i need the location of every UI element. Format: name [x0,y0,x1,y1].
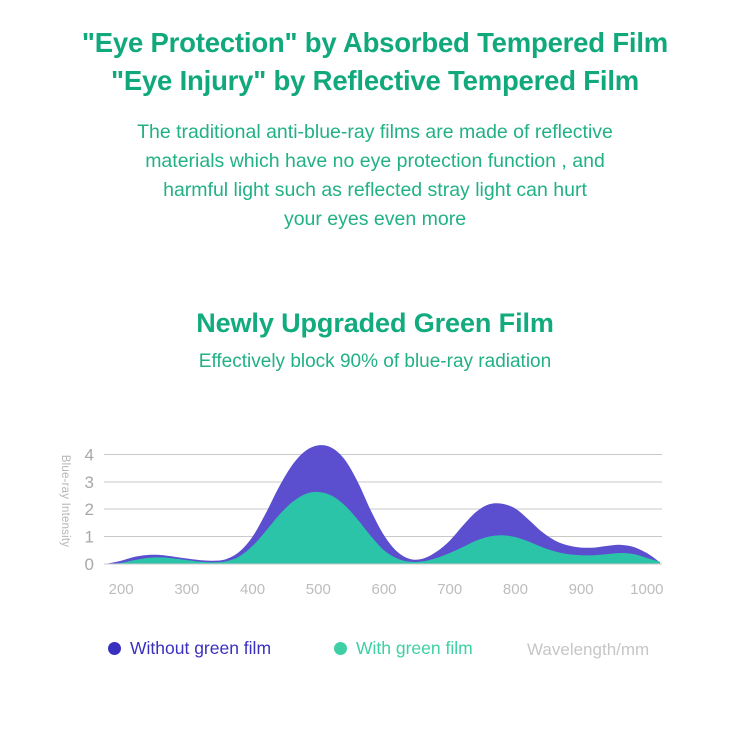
intro-line-1: The traditional anti-blue-ray films are … [55,118,695,147]
headline-block: "Eye Protection" by Absorbed Tempered Fi… [0,24,750,100]
section-heading-block: Newly Upgraded Green Film Effectively bl… [0,306,750,374]
headline-line-2: "Eye Injury" by Reflective Tempered Film [0,62,750,100]
x-axis-tick-label: 700 [437,581,462,598]
y-axis-tick-label: 3 [85,473,94,492]
legend-item-without-green-film[interactable]: Without green film [108,638,271,658]
x-axis-tick-label: 600 [371,581,396,598]
intro-line-4: your eyes even more [55,205,695,234]
section-subtitle: Effectively block 90% of blue-ray radiat… [0,349,750,374]
chart-svg: 012342003004005006007008009001000Blue-ra… [0,424,750,624]
legend-label-with-green-film: With green film [356,638,473,658]
legend-dot-icon [334,642,347,655]
x-axis-tick-label: 900 [569,581,594,598]
x-axis-tick-label: 400 [240,581,265,598]
y-axis-tick-label: 4 [85,445,94,464]
y-axis-tick-label: 1 [85,528,94,547]
series-area-without-green-film [108,445,660,564]
blue-ray-intensity-chart: 012342003004005006007008009001000Blue-ra… [0,424,750,674]
intro-paragraph: The traditional anti-blue-ray films are … [55,118,695,234]
infographic-page: "Eye Protection" by Absorbed Tempered Fi… [0,0,750,750]
legend-dot-icon [108,642,121,655]
x-axis-tick-label: 800 [503,581,528,598]
section-title: Newly Upgraded Green Film [0,306,750,340]
x-axis-title: Wavelength/mm [527,640,649,660]
y-axis-title: Blue-ray Intensity [59,455,71,547]
x-axis-tick-label: 200 [109,581,134,598]
legend-label-without-green-film: Without green film [130,638,271,658]
y-axis-tick-label: 0 [85,555,94,574]
intro-line-3: harmful light such as reflected stray li… [55,176,695,205]
x-axis-tick-label: 500 [306,581,331,598]
legend-item-with-green-film[interactable]: With green film [334,638,473,658]
y-axis-tick-label: 2 [85,500,94,519]
headline-line-1: "Eye Protection" by Absorbed Tempered Fi… [0,24,750,62]
x-axis-tick-label: 300 [174,581,199,598]
intro-line-2: materials which have no eye protection f… [55,147,695,176]
x-axis-tick-label: 1000 [630,581,663,598]
